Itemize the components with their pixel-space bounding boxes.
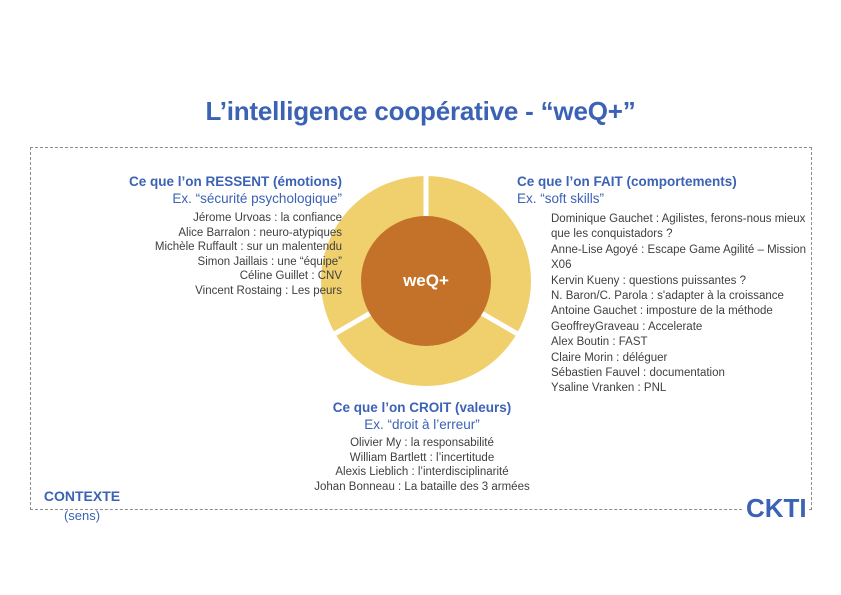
list-item: Dominique Gauchet : Agilistes, ferons-no… [551,212,807,243]
list-item: Alice Barralon : neuro-atypiques [60,226,342,241]
brand-logo-ckti: CKTI [744,492,809,524]
list-item: Kervin Kueny : questions puissantes ? [551,274,807,289]
block-ressent-items: Jérome Urvoas : la confiance Alice Barra… [60,211,342,299]
list-item: Anne-Lise Agoyé : Escape Game Agilité – … [551,243,807,274]
block-ressent-heading: Ce que l’on RESSENT (émotions) [60,173,342,190]
block-ressent: Ce que l’on RESSENT (émotions) Ex. “sécu… [60,173,342,299]
list-item: Michèle Ruffault : sur un malentendu [60,240,342,255]
page-title: L’intelligence coopérative - “weQ+” [0,96,841,127]
donut-center-hub [361,216,491,346]
block-ressent-subheading: Ex. “sécurité psychologique” [60,190,342,207]
contexte-label-sub: (sens) [20,506,144,525]
contexte-label-main: CONTEXTE [20,487,144,506]
list-item: Simon Jaillais : une “équipe” [60,255,342,270]
block-fait-heading: Ce que l’on FAIT (comportements) [517,173,807,190]
block-fait-subheading: Ex. “soft skills” [517,190,807,207]
list-item: GeoffreyGraveau : Accelerate [551,320,807,335]
list-item: Vincent Rostaing : Les peurs [60,284,342,299]
block-croit-items: Olivier My : la responsabilité William B… [272,436,572,494]
weq-donut-diagram: weQ+ [321,176,531,386]
slide-canvas: L’intelligence coopérative - “weQ+” [0,0,841,595]
block-croit: Ce que l’on CROIT (valeurs) Ex. “droit à… [272,399,572,494]
block-croit-subheading: Ex. “droit à l’erreur” [272,416,572,433]
block-fait-items: Dominique Gauchet : Agilistes, ferons-no… [517,212,807,397]
list-item: Alexis Lieblich : l’interdisciplinarité [272,465,572,480]
list-item: Jérome Urvoas : la confiance [60,211,342,226]
block-fait: Ce que l’on FAIT (comportements) Ex. “so… [517,173,807,397]
list-item: Céline Guillet : CNV [60,269,342,284]
contexte-label: CONTEXTE (sens) [20,487,144,525]
list-item: William Bartlett : l’incertitude [272,451,572,466]
block-croit-heading: Ce que l’on CROIT (valeurs) [272,399,572,416]
list-item: Antoine Gauchet : imposture de la méthod… [551,304,807,319]
list-item: N. Baron/C. Parola : s'adapter à la croi… [551,289,807,304]
list-item: Olivier My : la responsabilité [272,436,572,451]
list-item: Claire Morin : déléguer [551,351,807,366]
list-item: Sébastien Fauvel : documentation [551,366,807,381]
list-item: Ysaline Vranken : PNL [551,381,807,396]
list-item: Alex Boutin : FAST [551,335,807,350]
list-item: Johan Bonneau : La bataille des 3 armées [272,480,572,495]
